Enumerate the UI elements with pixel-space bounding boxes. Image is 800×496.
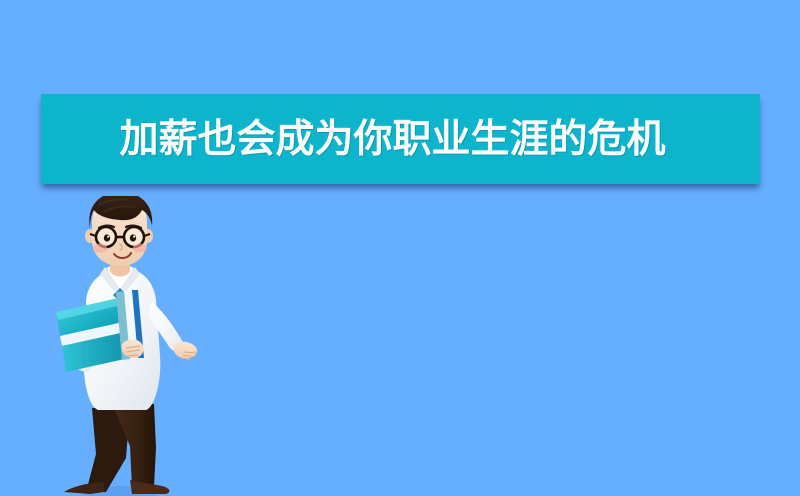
head xyxy=(85,196,153,266)
page-title: 加薪也会成为你职业生涯的危机 xyxy=(119,120,665,159)
title-banner: 加薪也会成为你职业生涯的危机 xyxy=(41,94,760,184)
shoe-back xyxy=(64,482,104,494)
cheek-right xyxy=(133,244,147,253)
cheek-left xyxy=(93,244,107,253)
eye-right xyxy=(130,234,136,241)
right-hand xyxy=(173,341,197,360)
eye-left xyxy=(104,234,110,241)
poster-canvas: 加薪也会成为你职业生涯的危机 xyxy=(0,0,800,496)
businessman-illustration xyxy=(34,196,204,496)
